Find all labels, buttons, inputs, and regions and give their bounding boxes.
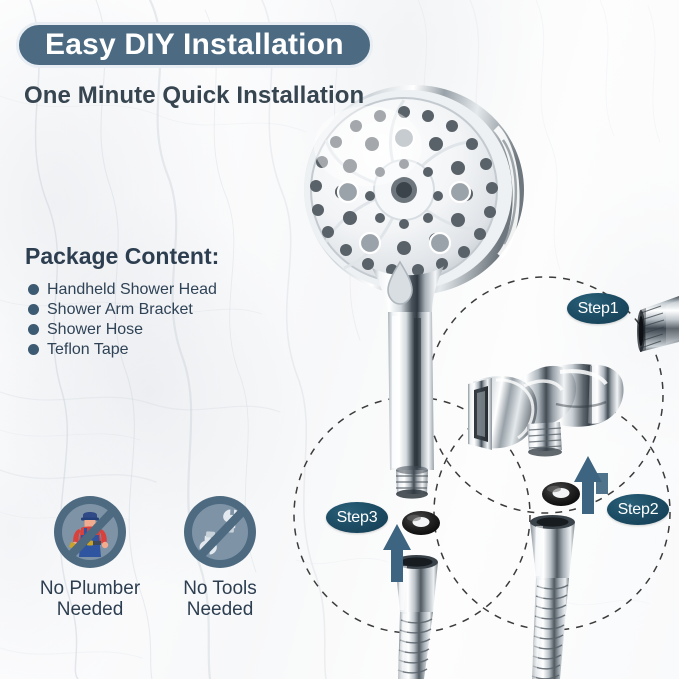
list-item: Shower Arm Bracket — [28, 300, 217, 319]
feature-caption: No Tools Needed — [150, 578, 290, 621]
feature-caption-line1: No Tools — [150, 578, 290, 599]
list-item: Teflon Tape — [28, 340, 217, 359]
page-subtitle: One Minute Quick Installation — [24, 82, 364, 110]
feature-caption-line2: Needed — [20, 599, 160, 620]
feature-caption: No Plumber Needed — [20, 578, 160, 621]
bullet-dot-icon — [28, 284, 39, 295]
feature-no-plumber: No Plumber Needed — [20, 495, 160, 621]
infographic-canvas: Easy DIY Installation One Minute Quick I… — [0, 0, 679, 679]
package-item-label: Teflon Tape — [47, 342, 129, 358]
bullet-dot-icon — [28, 324, 39, 335]
title-badge: Easy DIY Installation — [16, 22, 373, 68]
package-item-label: Handheld Shower Head — [47, 282, 217, 298]
no-plumber-icon — [53, 495, 127, 569]
feature-no-tools: No Tools Needed — [150, 495, 290, 621]
step-pill-2: Step2 — [607, 494, 669, 525]
bullet-dot-icon — [28, 304, 39, 315]
page-title: Easy DIY Installation — [45, 30, 344, 60]
list-item: Handheld Shower Head — [28, 280, 217, 299]
feature-caption-line1: No Plumber — [20, 578, 160, 599]
package-content-heading: Package Content: — [25, 243, 219, 270]
step-pill-3: Step3 — [326, 502, 388, 533]
no-tools-icon — [183, 495, 257, 569]
step-pill-1: Step1 — [567, 293, 629, 324]
step-label: Step1 — [578, 300, 619, 318]
step-label: Step3 — [337, 509, 378, 527]
list-item: Shower Hose — [28, 320, 217, 339]
bullet-dot-icon — [28, 344, 39, 355]
package-item-label: Shower Arm Bracket — [47, 302, 193, 318]
package-item-label: Shower Hose — [47, 322, 143, 338]
feature-caption-line2: Needed — [150, 599, 290, 620]
step-label: Step2 — [618, 501, 659, 519]
package-content-list: Handheld Shower Head Shower Arm Bracket … — [28, 280, 217, 360]
